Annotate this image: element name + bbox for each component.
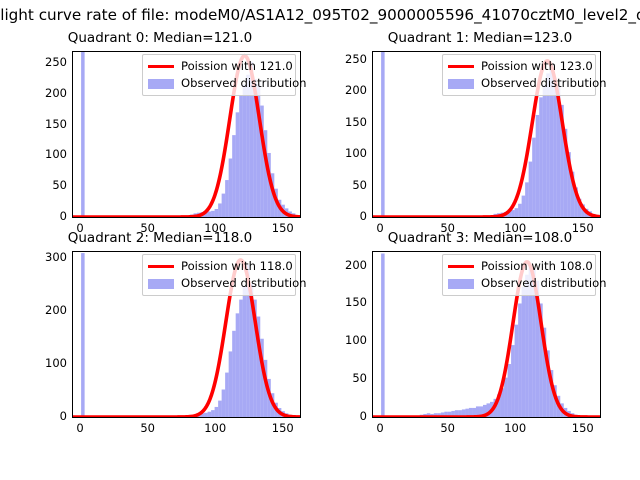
ytick-label: 200: [345, 84, 367, 96]
ytick-label: 100: [45, 148, 67, 160]
ytick-mark: [72, 155, 73, 156]
legend-label-poisson: Poission with 118.0: [181, 260, 293, 273]
legend-entry-poisson[interactable]: Poission with 123.0: [448, 59, 590, 74]
legend-label-observed: Observed distribution: [181, 277, 307, 290]
legend-entry-poisson[interactable]: Poission with 121.0: [148, 59, 290, 74]
xtick-mark: [381, 417, 382, 418]
legend-patch-marker: [148, 79, 174, 89]
ytick-label: 150: [345, 296, 367, 308]
ytick-mark: [72, 311, 73, 312]
legend-label-poisson: Poission with 108.0: [481, 260, 593, 273]
xtick-mark: [81, 217, 82, 218]
legend-entry-observed[interactable]: Observed distribution: [148, 276, 290, 291]
ytick-label: 250: [45, 56, 67, 68]
ytick-label: 200: [45, 304, 67, 316]
legend-entry-observed[interactable]: Observed distribution: [148, 76, 290, 91]
subplot-quadrant-3: Quadrant 3: Median=108.0 050100150200050…: [320, 226, 640, 440]
legend-label-poisson: Poission with 123.0: [481, 60, 593, 73]
subplot-title-quadrant-2: Quadrant 2: Median=118.0: [0, 230, 320, 246]
ytick-mark: [372, 123, 373, 124]
ytick-mark: [372, 186, 373, 187]
xtick-mark: [381, 217, 382, 218]
ytick-mark: [372, 341, 373, 342]
ytick-label: 0: [360, 410, 367, 422]
ytick-mark: [72, 94, 73, 95]
xtick-label: 100: [495, 422, 535, 434]
ytick-mark: [372, 91, 373, 92]
ytick-mark: [372, 417, 373, 418]
ytick-label: 0: [60, 410, 67, 422]
matplotlib-figure: Poission fit for light curve rate of fil…: [0, 0, 640, 480]
legend-quadrant-0: Poission with 121.0Observed distribution: [142, 54, 296, 96]
legend-quadrant-1: Poission with 123.0Observed distribution: [442, 54, 596, 96]
legend-entry-poisson[interactable]: Poission with 108.0: [448, 259, 590, 274]
legend-entry-observed[interactable]: Observed distribution: [448, 276, 590, 291]
subplot-quadrant-0: Quadrant 0: Median=121.0 050100150200250…: [0, 26, 320, 240]
ytick-mark: [72, 186, 73, 187]
legend-label-observed: Observed distribution: [181, 77, 307, 90]
ytick-label: 0: [60, 210, 67, 222]
ytick-label: 200: [345, 259, 367, 271]
legend-label-observed: Observed distribution: [481, 277, 607, 290]
legend-patch-marker: [448, 279, 474, 289]
legend-line-marker: [448, 265, 474, 268]
ytick-label: 100: [345, 147, 367, 159]
xtick-mark: [584, 217, 585, 218]
xtick-label: 100: [195, 422, 235, 434]
ytick-mark: [72, 364, 73, 365]
legend-label-poisson: Poission with 121.0: [181, 60, 293, 73]
xtick-mark: [449, 417, 450, 418]
figure-suptitle: Poission fit for light curve rate of fil…: [0, 4, 640, 26]
subplot-title-quadrant-0: Quadrant 0: Median=121.0: [0, 30, 320, 46]
ytick-label: 50: [352, 372, 367, 384]
ytick-mark: [72, 258, 73, 259]
ytick-label: 50: [352, 179, 367, 191]
ytick-mark: [72, 217, 73, 218]
xtick-label: 150: [263, 422, 303, 434]
xtick-mark: [216, 417, 217, 418]
xtick-label: 0: [60, 422, 100, 434]
ytick-label: 0: [360, 210, 367, 222]
xtick-mark: [149, 217, 150, 218]
subplot-quadrant-2: Quadrant 2: Median=118.0 010020030005010…: [0, 226, 320, 440]
ytick-label: 250: [345, 53, 367, 65]
legend-patch-marker: [448, 79, 474, 89]
xtick-label: 50: [428, 422, 468, 434]
ytick-mark: [72, 125, 73, 126]
xtick-mark: [516, 417, 517, 418]
legend-patch-marker: [148, 279, 174, 289]
subplot-quadrant-1: Quadrant 1: Median=123.0 050100150200250…: [320, 26, 640, 240]
xtick-mark: [584, 417, 585, 418]
ytick-mark: [372, 266, 373, 267]
ytick-mark: [372, 60, 373, 61]
ytick-label: 100: [345, 334, 367, 346]
xtick-mark: [284, 217, 285, 218]
ytick-mark: [372, 379, 373, 380]
ytick-label: 150: [345, 116, 367, 128]
subplot-title-quadrant-1: Quadrant 1: Median=123.0: [320, 30, 640, 46]
subplot-title-quadrant-3: Quadrant 3: Median=108.0: [320, 230, 640, 246]
xtick-label: 0: [360, 422, 400, 434]
xtick-mark: [284, 417, 285, 418]
ytick-mark: [72, 63, 73, 64]
legend-quadrant-2: Poission with 118.0Observed distribution: [142, 254, 296, 296]
ytick-mark: [372, 154, 373, 155]
ytick-mark: [372, 217, 373, 218]
ytick-label: 200: [45, 87, 67, 99]
legend-entry-observed[interactable]: Observed distribution: [448, 76, 590, 91]
legend-entry-poisson[interactable]: Poission with 118.0: [148, 259, 290, 274]
legend-line-marker: [448, 65, 474, 68]
legend-line-marker: [148, 265, 174, 268]
legend-line-marker: [148, 65, 174, 68]
xtick-mark: [216, 217, 217, 218]
figure-suptitle-text: Poission fit for light curve rate of fil…: [0, 4, 640, 26]
ytick-label: 50: [52, 179, 67, 191]
xtick-mark: [149, 417, 150, 418]
legend-quadrant-3: Poission with 108.0Observed distribution: [442, 254, 596, 296]
xtick-mark: [81, 417, 82, 418]
ytick-mark: [72, 417, 73, 418]
ytick-label: 100: [45, 357, 67, 369]
legend-label-observed: Observed distribution: [481, 77, 607, 90]
xtick-label: 150: [563, 422, 603, 434]
ytick-mark: [372, 304, 373, 305]
ytick-label: 150: [45, 118, 67, 130]
xtick-mark: [449, 217, 450, 218]
xtick-label: 50: [128, 422, 168, 434]
ytick-label: 300: [45, 251, 67, 263]
xtick-mark: [516, 217, 517, 218]
